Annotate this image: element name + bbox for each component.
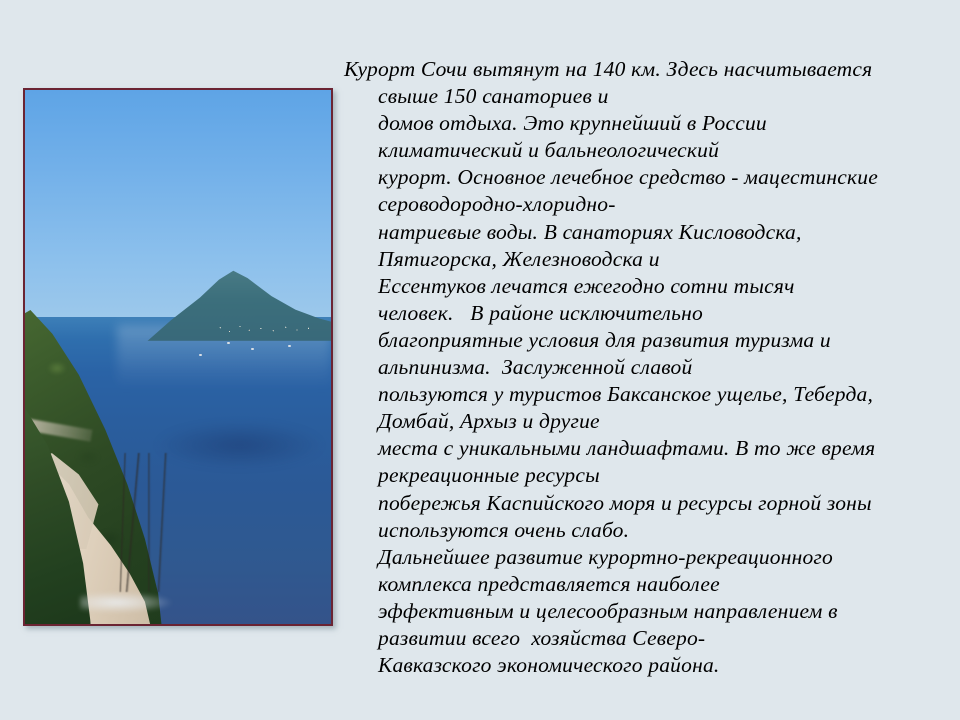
photo-frame[interactable]	[23, 88, 333, 626]
text-line: Курорт Сочи вытянут на 140 км. Здесь нас…	[344, 56, 944, 83]
photo-cliff-erosion-streaks	[117, 453, 184, 592]
text-line: рекреационные ресурсы	[344, 462, 944, 489]
text-line: человек. В районе исключительно	[344, 300, 944, 327]
text-line: Домбай, Архыз и другие	[344, 408, 944, 435]
text-line: пользуются у туристов Баксанское ущелье,…	[344, 381, 944, 408]
slide-canvas: Курорт Сочи вытянут на 140 км. Здесь нас…	[0, 0, 960, 720]
text-line: Пятигорска, Железноводска и	[344, 246, 944, 273]
text-line: свыше 150 санаториев и	[344, 83, 944, 110]
text-line: места с уникальными ландшафтами. В то же…	[344, 435, 944, 462]
text-line: побережья Каспийского моря и ресурсы гор…	[344, 490, 944, 517]
text-line: развитии всего хозяйства Северо-	[344, 625, 944, 652]
text-line: домов отдыха. Это крупнейший в России	[344, 110, 944, 137]
text-line: Дальнейшее развитие курортно-рекреационн…	[344, 544, 944, 571]
text-line: альпинизма. Заслуженной славой	[344, 354, 944, 381]
body-paragraph: Курорт Сочи вытянут на 140 км. Здесь нас…	[344, 56, 944, 679]
text-line: используются очень слабо.	[344, 517, 944, 544]
photo-boat	[227, 342, 230, 344]
text-line: благоприятные условия для развития туриз…	[344, 327, 944, 354]
text-line: сероводородно-хлоридно-	[344, 191, 944, 218]
photo-shoreline-town	[215, 323, 319, 335]
photo-surf-line	[80, 592, 172, 613]
text-line: Ессентуков лечатся ежегодно сотни тысяч	[344, 273, 944, 300]
text-line: курорт. Основное лечебное средство - мац…	[344, 164, 944, 191]
text-line: Кавказского экономического района.	[344, 652, 944, 679]
text-line: натриевые воды. В санаториях Кисловодска…	[344, 219, 944, 246]
text-line: климатический и бальнеологический	[344, 137, 944, 164]
body-text-block: Курорт Сочи вытянут на 140 км. Здесь нас…	[344, 56, 944, 679]
text-line: эффективным и целесообразным направление…	[344, 598, 944, 625]
text-line: комплекса представляется наиболее	[344, 571, 944, 598]
coastal-landscape-photo	[25, 90, 331, 624]
